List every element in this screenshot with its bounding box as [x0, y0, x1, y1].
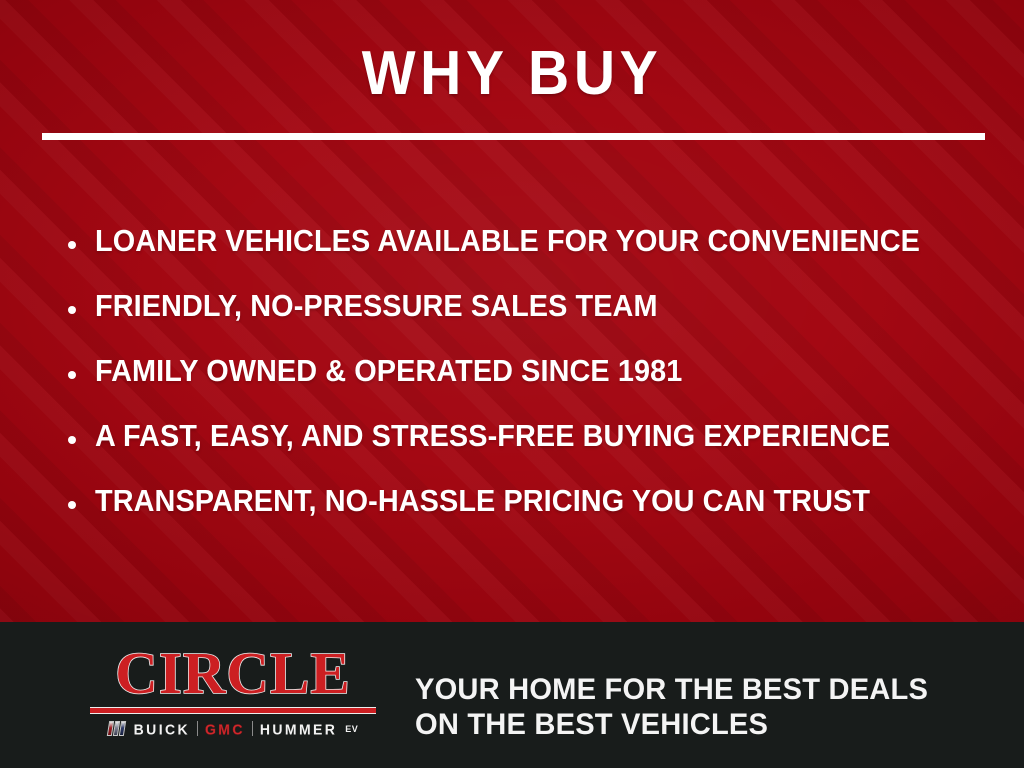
- list-item-label: TRANSPARENT, NO-HASSLE PRICING YOU CAN T…: [95, 482, 870, 520]
- dealer-logo: CIRCLE BUICK GMC HUMMER EV: [88, 644, 378, 736]
- page-title: WHY BUY: [41, 43, 983, 105]
- logo-underline-bar: [90, 707, 376, 714]
- list-item: TRANSPARENT, NO-HASSLE PRICING YOU CAN T…: [68, 482, 998, 547]
- benefits-list: LOANER VEHICLES AVAILABLE FOR YOUR CONVE…: [68, 222, 998, 547]
- dealer-tagline: YOUR HOME FOR THE BEST DEALS ON THE BEST…: [415, 672, 928, 742]
- buick-trishield-icon: [108, 721, 125, 736]
- list-item-label: FAMILY OWNED & OPERATED SINCE 1981: [95, 352, 682, 390]
- tagline-line-2: ON THE BEST VEHICLES: [415, 707, 928, 742]
- list-item: FRIENDLY, NO-PRESSURE SALES TEAM: [68, 287, 998, 352]
- brand-label-gmc: GMC: [205, 721, 245, 736]
- why-buy-slide: WHY BUY LOANER VEHICLES AVAILABLE FOR YO…: [0, 0, 1024, 768]
- footer-bar: CIRCLE BUICK GMC HUMMER EV YOUR HOME FOR…: [0, 622, 1024, 768]
- bullet-dot-icon: [68, 436, 76, 444]
- brand-label-ev: EV: [345, 724, 358, 734]
- bullet-dot-icon: [68, 371, 76, 379]
- bullet-dot-icon: [68, 306, 76, 314]
- bullet-dot-icon: [68, 501, 76, 509]
- list-item: A FAST, EASY, AND STRESS-FREE BUYING EXP…: [68, 417, 998, 482]
- title-divider-rule: [42, 133, 985, 140]
- brand-strip: BUICK GMC HUMMER EV: [88, 721, 378, 736]
- list-item-label: A FAST, EASY, AND STRESS-FREE BUYING EXP…: [95, 417, 890, 455]
- tagline-line-1: YOUR HOME FOR THE BEST DEALS: [415, 672, 928, 707]
- brand-separator: [252, 721, 253, 736]
- list-item: LOANER VEHICLES AVAILABLE FOR YOUR CONVE…: [68, 222, 998, 287]
- brand-separator: [197, 721, 198, 736]
- list-item: FAMILY OWNED & OPERATED SINCE 1981: [68, 352, 998, 417]
- list-item-label: FRIENDLY, NO-PRESSURE SALES TEAM: [95, 287, 658, 325]
- bullet-dot-icon: [68, 241, 76, 249]
- list-item-label: LOANER VEHICLES AVAILABLE FOR YOUR CONVE…: [95, 222, 920, 260]
- dealer-logo-wordmark: CIRCLE: [88, 644, 378, 703]
- brand-label-hummer: HUMMER: [260, 721, 337, 736]
- brand-label-buick: BUICK: [134, 721, 190, 736]
